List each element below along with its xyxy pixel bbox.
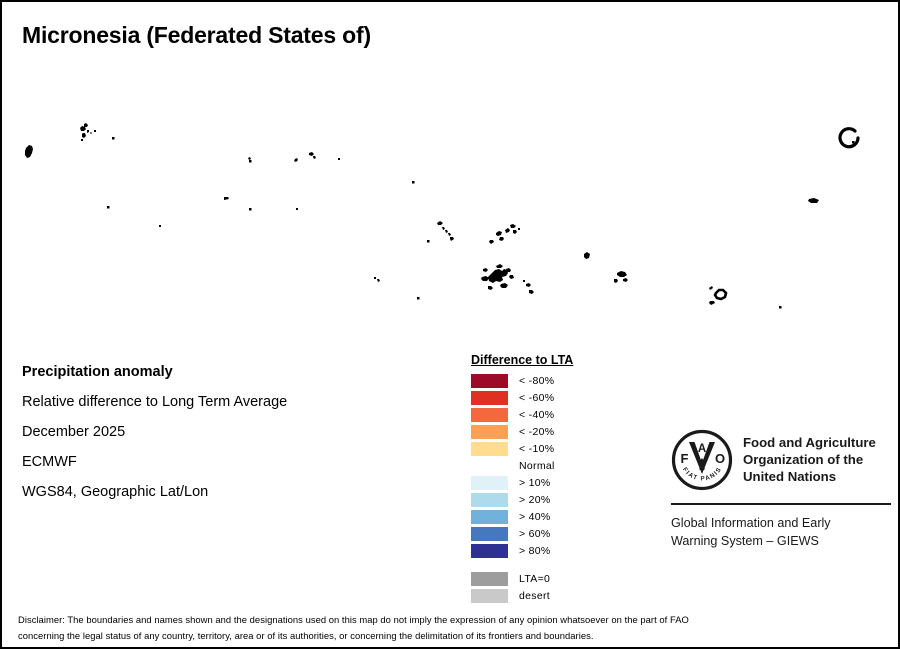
legend-label: > 40% xyxy=(519,511,551,523)
legend-label: desert xyxy=(519,590,550,602)
info-period: December 2025 xyxy=(22,417,422,447)
svg-text:O: O xyxy=(715,451,725,466)
legend-label: LTA=0 xyxy=(519,573,550,585)
info-precipitation-anomaly: Precipitation anomaly xyxy=(22,357,422,387)
legend-spacer xyxy=(471,559,651,570)
page-title: Micronesia (Federated States of) xyxy=(22,22,371,49)
legend-label: < -40% xyxy=(519,409,554,421)
map-info-block: Precipitation anomaly Relative differenc… xyxy=(22,357,422,507)
fao-name-line-1: Food and Agriculture xyxy=(743,434,876,451)
legend-swatch xyxy=(471,476,508,490)
map-canvas xyxy=(4,60,898,318)
legend-item-normal: Normal xyxy=(471,457,651,474)
legend-swatch xyxy=(471,493,508,507)
legend-item: < -20% xyxy=(471,423,651,440)
legend-item: < -40% xyxy=(471,406,651,423)
info-relative-difference: Relative difference to Long Term Average xyxy=(22,387,422,417)
fao-organization-name: Food and Agriculture Organization of the… xyxy=(743,429,876,485)
legend-swatch xyxy=(471,408,508,422)
legend-swatch xyxy=(471,425,508,439)
svg-text:F: F xyxy=(681,451,689,466)
fao-name-line-3: United Nations xyxy=(743,468,876,485)
legend-item: > 20% xyxy=(471,491,651,508)
map-figure: Micronesia (Federated States of) xyxy=(0,0,900,649)
legend-item: > 10% xyxy=(471,474,651,491)
legend-item: < -10% xyxy=(471,440,651,457)
legend-item: > 40% xyxy=(471,508,651,525)
info-projection: WGS84, Geographic Lat/Lon xyxy=(22,477,422,507)
giews-line-2: Warning System – GIEWS xyxy=(671,532,891,550)
fao-name-line-2: Organization of the xyxy=(743,451,876,468)
legend-label: > 60% xyxy=(519,528,551,540)
legend-title: Difference to LTA xyxy=(471,353,651,367)
legend-item-desert: desert xyxy=(471,587,651,604)
legend-label: < -80% xyxy=(519,375,554,387)
divider xyxy=(671,503,891,505)
legend-label: > 20% xyxy=(519,494,551,506)
legend-label: < -20% xyxy=(519,426,554,438)
legend-label: Normal xyxy=(519,460,555,472)
fao-wheat-logo-icon: A F O FIAT PANIS xyxy=(671,429,733,491)
legend-swatch xyxy=(471,544,508,558)
legend-swatch xyxy=(471,459,508,473)
legend-swatch xyxy=(471,527,508,541)
legend-label: < -10% xyxy=(519,443,554,455)
legend-swatch xyxy=(471,589,508,603)
legend-swatch xyxy=(471,374,508,388)
disclaimer-line-1: Disclaimer: The boundaries and names sho… xyxy=(18,612,888,628)
legend-item: < -80% xyxy=(471,372,651,389)
legend-swatch xyxy=(471,510,508,524)
landmass-group xyxy=(25,123,887,318)
legend-item: > 60% xyxy=(471,525,651,542)
legend-swatch xyxy=(471,442,508,456)
legend-swatch xyxy=(471,391,508,405)
legend-label: > 80% xyxy=(519,545,551,557)
legend-label: > 10% xyxy=(519,477,551,489)
legend-label: < -60% xyxy=(519,392,554,404)
disclaimer: Disclaimer: The boundaries and names sho… xyxy=(18,612,888,644)
info-source: ECMWF xyxy=(22,447,422,477)
legend-item: < -60% xyxy=(471,389,651,406)
svg-text:A: A xyxy=(698,443,706,455)
disclaimer-line-2: concerning the legal status of any count… xyxy=(18,628,888,644)
legend-swatch xyxy=(471,572,508,586)
giews-subtitle: Global Information and Early Warning Sys… xyxy=(671,514,891,550)
legend-item-lta-zero: LTA=0 xyxy=(471,570,651,587)
giews-line-1: Global Information and Early xyxy=(671,514,891,532)
island-geometry xyxy=(4,60,898,318)
legend-item: > 80% xyxy=(471,542,651,559)
legend: Difference to LTA < -80% < -60% < -40% <… xyxy=(471,353,651,604)
fao-branding: A F O FIAT PANIS Food and A xyxy=(671,429,891,550)
